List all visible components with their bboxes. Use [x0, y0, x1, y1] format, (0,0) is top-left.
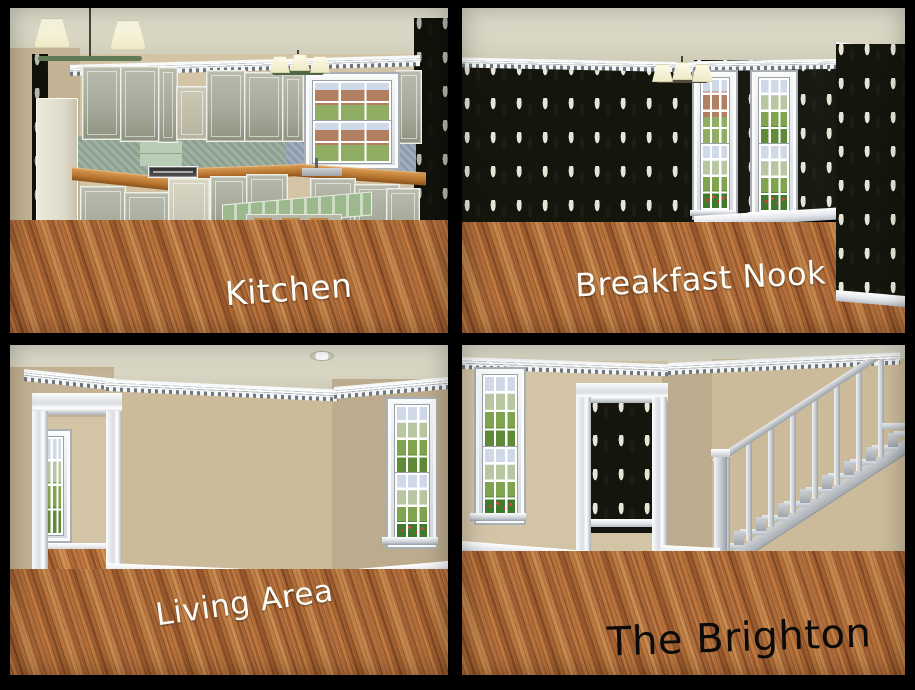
nook-window-right-upper-sash [759, 78, 789, 146]
kitchen-open-shelf[interactable] [176, 86, 208, 140]
kitchen-backsplash-tile-accent [140, 140, 182, 166]
brighton-window-upper-sash [483, 375, 517, 449]
nook-right-wallpaper-front [836, 44, 905, 299]
chandelier-shade [34, 18, 70, 48]
kitchen-scene: Kitchen [10, 8, 448, 333]
living-window-grid-lower [397, 475, 427, 539]
living-recessed-light[interactable] [310, 351, 334, 361]
stair-upper-landing [882, 423, 905, 429]
living-doorway-opening[interactable] [46, 417, 112, 585]
kitchen-upper-cabinet[interactable] [206, 70, 246, 142]
doorway-far-window-grid [47, 439, 61, 533]
nook-scene: Breakfast Nook [462, 8, 905, 333]
chandelier-rod [89, 8, 91, 56]
living-window[interactable] [388, 399, 436, 547]
doorway-far-window [46, 431, 70, 541]
chandelier-shade [672, 62, 693, 80]
doorway-far-window-sash [46, 437, 63, 535]
stair-baluster [790, 409, 796, 513]
kitchen-upper-cabinet[interactable] [158, 67, 178, 143]
nook-window-right-lower-sash [759, 144, 789, 212]
brighton-doorway[interactable] [590, 401, 654, 533]
stair-baluster [834, 381, 840, 485]
brighton-window-grid [485, 377, 515, 447]
panel-living-area[interactable]: Living Area [10, 345, 448, 675]
nook-chandelier[interactable] [652, 56, 712, 98]
panel-kitchen[interactable]: Kitchen [10, 8, 448, 333]
brighton-doorway-left-casing [576, 397, 591, 553]
panel-breakfast-nook[interactable]: Breakfast Nook [462, 8, 905, 333]
kitchen-upper-cabinet[interactable] [396, 70, 422, 144]
living-window-upper-sash [395, 405, 429, 475]
panel-brighton[interactable]: The Brighton [462, 345, 905, 675]
living-window-grid [397, 407, 427, 473]
stair-newel-post [714, 455, 727, 559]
brighton-window[interactable] [476, 369, 524, 523]
kitchen-range[interactable] [148, 166, 198, 178]
nook-window-left-lower-sash [701, 144, 729, 210]
chandelier-shade [270, 56, 290, 73]
panel-label-brighton: The Brighton [606, 610, 872, 665]
chandelier-shade [110, 20, 146, 50]
kitchen-chandelier[interactable] [30, 8, 150, 88]
brighton-doorway-right-casing [652, 397, 667, 563]
room-collage: Kitchen [0, 0, 915, 690]
kitchen-secondary-chandelier[interactable] [268, 50, 328, 92]
nook-window-right-grid-lower [761, 146, 787, 210]
stair-newel-cap [711, 449, 730, 457]
brighton-window-lower-sash [483, 447, 517, 517]
brighton-doorway-wallpaper [590, 401, 654, 533]
kitchen-window-grid-lower [315, 123, 389, 161]
chandelier-shade [310, 56, 330, 73]
chandelier-shade [290, 54, 310, 71]
brighton-window-sill [470, 513, 526, 521]
nook-window-left-grid-lower [703, 146, 727, 208]
living-scene: Living Area [10, 345, 448, 675]
brighton-scene: The Brighton [462, 345, 905, 675]
nook-window-right-grid [761, 80, 787, 144]
nook-window-right[interactable] [752, 72, 796, 220]
chandelier-shade [652, 64, 673, 82]
kitchen-sink[interactable] [302, 168, 342, 176]
stair-baluster [856, 367, 862, 471]
stair-baluster [812, 395, 818, 499]
stair-baluster [746, 437, 752, 541]
stair-tread [894, 431, 905, 437]
stair-baluster [768, 423, 774, 527]
chandelier-arm [38, 56, 142, 61]
chandelier-shade [692, 64, 713, 82]
kitchen-window-lower-sash [313, 121, 391, 163]
brighton-doorway-baseboard [590, 519, 654, 527]
living-window-lower-sash [395, 473, 429, 541]
living-back-wall [106, 389, 336, 579]
living-doorway-right-casing [106, 411, 122, 587]
stair-baluster [878, 359, 884, 457]
brighton-window-grid-lower [485, 449, 515, 515]
living-window-sill [382, 537, 438, 545]
